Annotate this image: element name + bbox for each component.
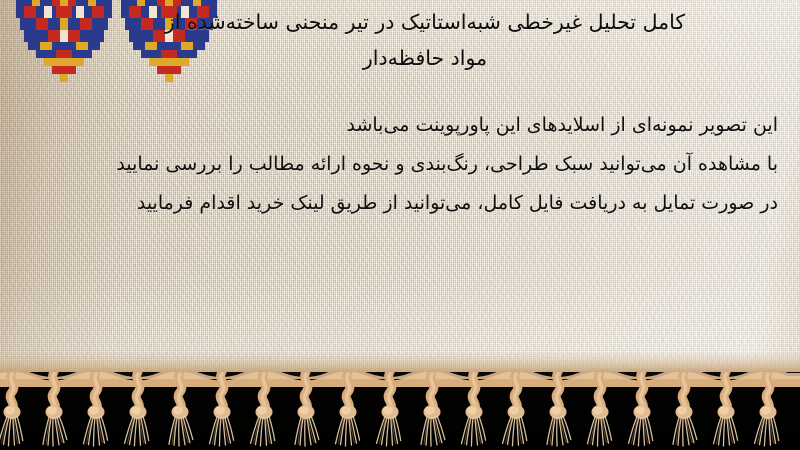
slide-body-line-3: در صورت تمایل به دریافت فایل کامل، می‌تو… (8, 184, 778, 223)
fringe-tassel-icon (624, 372, 664, 448)
fringe-tassel-icon (0, 372, 34, 448)
slide-canvas: کامل تحلیل غیرخطی شبه‌استاتیک در تیر منح… (0, 0, 800, 450)
slide-body-text: این تصویر نمونه‌ای از اسلایدهای این پاور… (8, 106, 778, 223)
fringe-tassel-icon (330, 372, 370, 448)
fringe-tassel-icon (498, 372, 538, 448)
slide-title: کامل تحلیل غیرخطی شبه‌استاتیک در تیر منح… (60, 4, 790, 76)
fringe-tassel-icon (162, 372, 202, 448)
fringe-tassel-icon (36, 372, 76, 448)
fringe-tassel-icon (582, 372, 622, 448)
fringe-tassel-icon (78, 372, 118, 448)
fringe-tassel-icon (540, 372, 580, 448)
slide-body-line-2: با مشاهده آن می‌توانید سبک طراحی، رنگ‌بن… (8, 145, 778, 184)
slide-title-line-2: مواد حافظه‌دار (60, 40, 790, 76)
fringe-tassel-icon (708, 372, 748, 448)
fringe-tassel-icon (414, 372, 454, 448)
fringe-tassel-icon (372, 372, 412, 448)
fringe-tassel-icon (288, 372, 328, 448)
fringe-tassel-icon (246, 372, 286, 448)
fringe-tassel-icon (666, 372, 706, 448)
carpet-tassel-fringe (0, 372, 800, 450)
fringe-tassel-icon (456, 372, 496, 448)
fringe-tassel-icon (204, 372, 244, 448)
fringe-tassel-icon (120, 372, 160, 448)
slide-title-line-1: کامل تحلیل غیرخطی شبه‌استاتیک در تیر منح… (60, 4, 790, 40)
fringe-tassel-icon (750, 372, 790, 448)
slide-body-line-1: این تصویر نمونه‌ای از اسلایدهای این پاور… (8, 106, 778, 145)
